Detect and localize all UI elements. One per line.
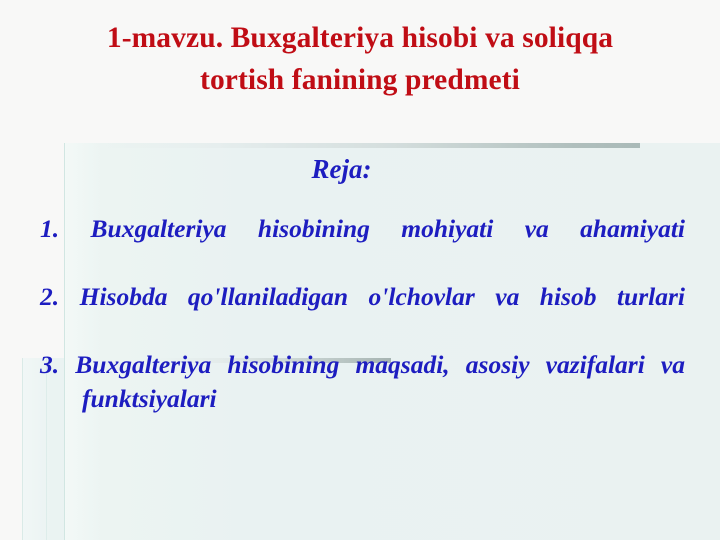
list-item-number: 3. (40, 350, 75, 379)
list-item-number: 1. (40, 214, 91, 243)
plan-list: 1. Buxgalteriya hisobining mohiyati va a… (40, 212, 685, 449)
slide-body: Reja: 1. Buxgalteriya hisobining mohiyat… (40, 152, 685, 450)
plan-heading: Reja: (40, 152, 685, 186)
list-item-text: Buxgalteriya hisobining maqsadi, asosiy … (75, 350, 685, 413)
list-item-text: Buxgalteriya hisobining mohiyati va aham… (91, 214, 686, 243)
list-item-number: 2. (40, 282, 80, 311)
top-accent-bar (92, 143, 640, 148)
presentation-slide: 1-mavzu. Buxgalteriya hisobi va soliqqa … (0, 0, 720, 540)
slide-title-line-1: 1-mavzu. Buxgalteriya hisobi va soliqqa (0, 17, 720, 59)
list-item: 1. Buxgalteriya hisobining mohiyati va a… (40, 212, 685, 279)
list-item: 3. Buxgalteriya hisobining maqsadi, asos… (40, 348, 685, 449)
lower-panel-edge (22, 358, 23, 540)
list-item: 2. Hisobda qo'llaniladigan o'lchovlar va… (40, 280, 685, 347)
slide-title-line-2: tortish fanining predmeti (0, 59, 720, 101)
slide-title: 1-mavzu. Buxgalteriya hisobi va soliqqa … (0, 17, 720, 101)
list-item-text: Hisobda qo'llaniladigan o'lchovlar va hi… (80, 282, 685, 311)
